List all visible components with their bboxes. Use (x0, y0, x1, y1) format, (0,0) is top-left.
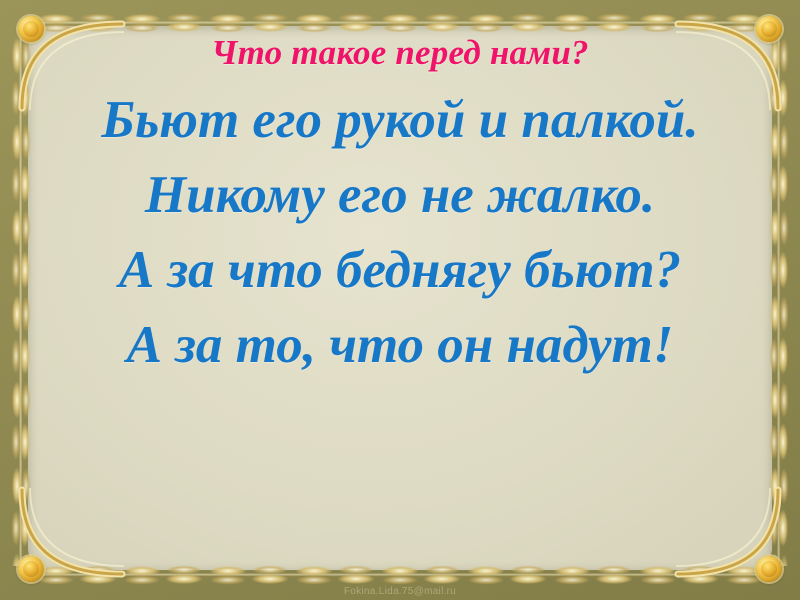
gem-stud-bottom-left-icon (18, 556, 44, 582)
riddle-line: Бьют его рукой и палкой. (40, 83, 760, 158)
riddle-text-block: Бьют его рукой и палкой. Никому его не ж… (40, 83, 760, 384)
slide: Что такое перед нами? Бьют его рукой и п… (0, 0, 800, 600)
author-watermark: Fokina.Lida.75@mail.ru (0, 586, 800, 597)
riddle-line: Никому его не жалко. (40, 158, 760, 233)
riddle-line: А за что беднягу бьют? (40, 233, 760, 308)
slide-title: Что такое перед нами? (40, 34, 760, 73)
riddle-line: А за то, что он надут! (40, 308, 760, 383)
gem-stud-bottom-right-icon (756, 556, 782, 582)
slide-content: Что такое перед нами? Бьют его рукой и п… (40, 34, 760, 384)
